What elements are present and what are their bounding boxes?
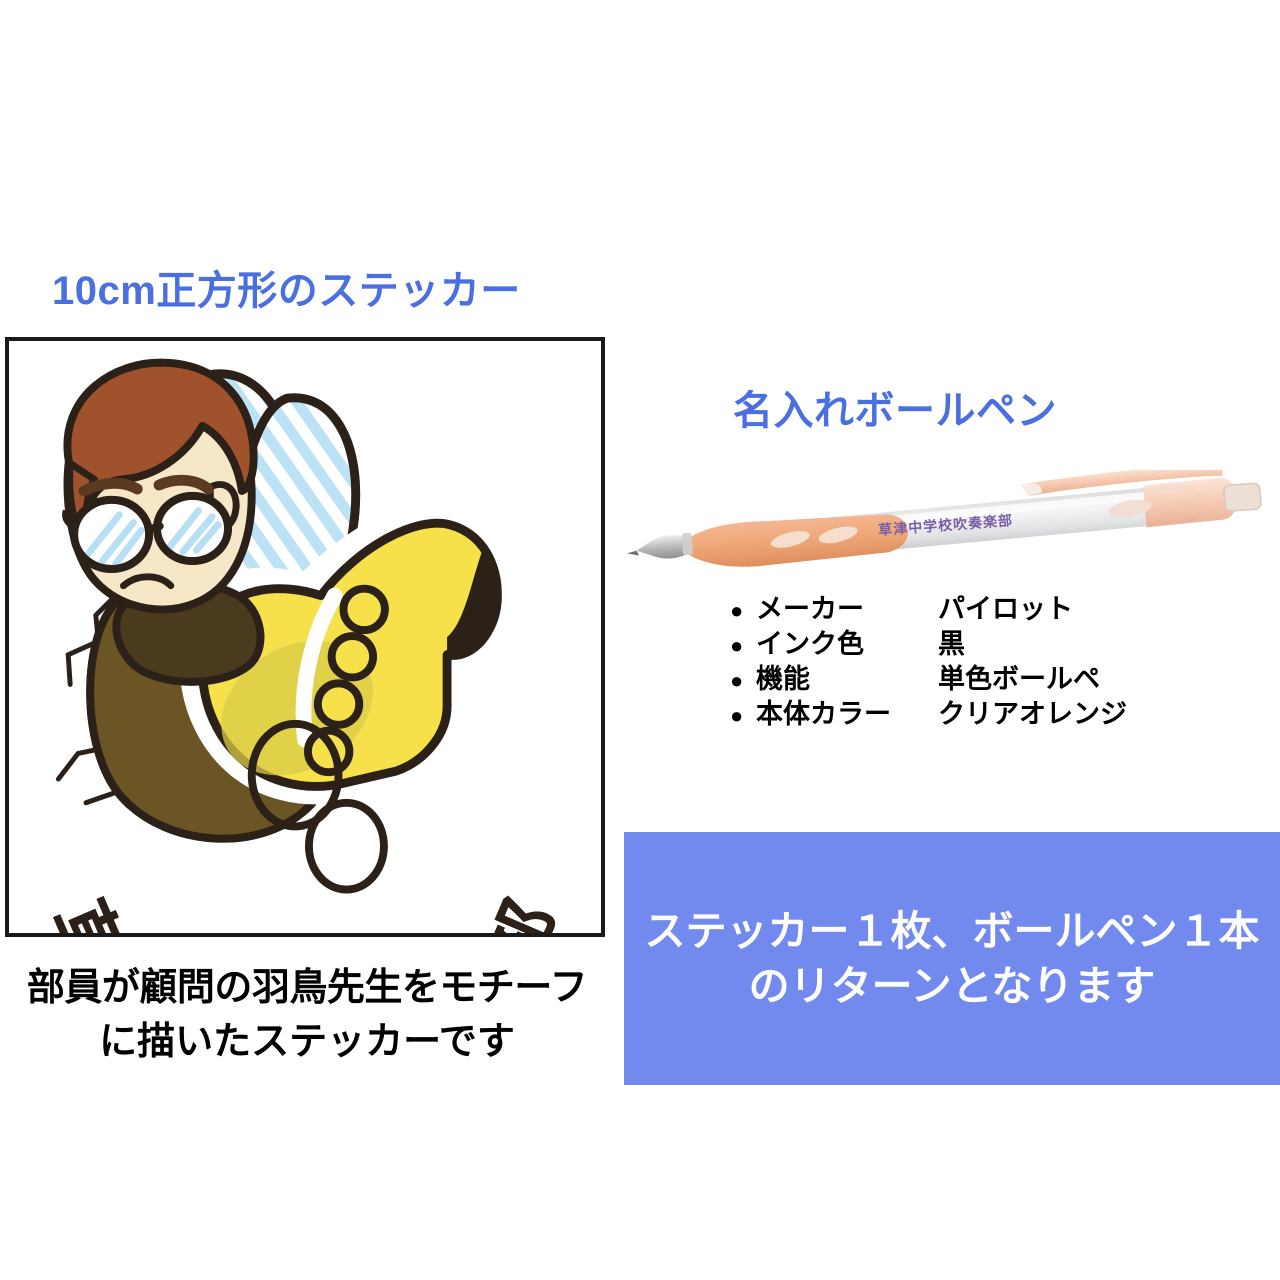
pen-knock-button[interactable] xyxy=(1223,483,1261,512)
spec-row-function: ● 機能 単色ボールペ xyxy=(730,662,1127,697)
sticker-caption: 部員が顧問の羽鳥先生をモチーフ に描いたステッカーです xyxy=(0,962,614,1070)
sticker-caption-line-2: に描いたステッカーです xyxy=(0,1016,614,1070)
spec-row-ink-color: ● インク色 黒 xyxy=(730,627,1127,662)
spec-label-function: 機能 xyxy=(756,662,938,697)
return-summary-callout: ステッカー１枚、ボールペン１本 のリターンとなります xyxy=(624,832,1280,1085)
pen-tip-cone xyxy=(636,534,690,561)
return-summary-text: ステッカー１枚、ボールペン１本 のリターンとなります xyxy=(637,904,1268,1014)
pen-spec-list: ● メーカー パイロット ● インク色 黒 ● 機能 単色ボールペ ● 本体カラ… xyxy=(730,592,1127,732)
spec-label-body-color: 本体カラー xyxy=(756,697,938,732)
spec-value-ink-color: 黒 xyxy=(938,627,965,662)
spec-row-body-color: ● 本体カラー クリアオレンジ xyxy=(730,697,1127,732)
pen-body: 草津中学校吹奏楽部 xyxy=(626,470,1263,576)
spec-value-maker: パイロット xyxy=(938,592,1073,627)
spec-label-maker: メーカー xyxy=(756,592,938,627)
return-summary-line-1: ステッカー１枚、ボールペン１本 xyxy=(645,904,1260,959)
bullet-icon: ● xyxy=(730,600,756,622)
pen-writing-tip xyxy=(627,551,639,557)
sticker-illustration: 草津中学校吹奏楽部 草津中学校吹奏楽部 xyxy=(9,341,601,933)
spec-value-function: 単色ボールペ xyxy=(938,662,1100,697)
pen-illustration: 草津中学校吹奏楽部 xyxy=(626,470,1266,580)
sticker-section-heading: 10cm正方形のステッカー xyxy=(52,258,521,316)
spec-value-body-color: クリアオレンジ xyxy=(938,697,1127,732)
spec-row-maker: ● メーカー パイロット xyxy=(730,592,1127,627)
bullet-icon: ● xyxy=(730,635,756,657)
pen-section-heading: 名入れボールペン xyxy=(733,378,1057,436)
pen-clip-housing xyxy=(1143,477,1238,528)
bullet-icon: ● xyxy=(730,705,756,727)
pen-photo: 草津中学校吹奏楽部 xyxy=(626,470,1266,580)
bullet-icon: ● xyxy=(730,670,756,692)
spec-label-ink-color: インク色 xyxy=(756,627,938,662)
sticker-caption-line-1: 部員が顧問の羽鳥先生をモチーフ xyxy=(0,962,614,1016)
return-summary-line-2: のリターンとなります xyxy=(645,959,1260,1014)
sticker-image-frame: 草津中学校吹奏楽部 草津中学校吹奏楽部 xyxy=(5,337,605,937)
